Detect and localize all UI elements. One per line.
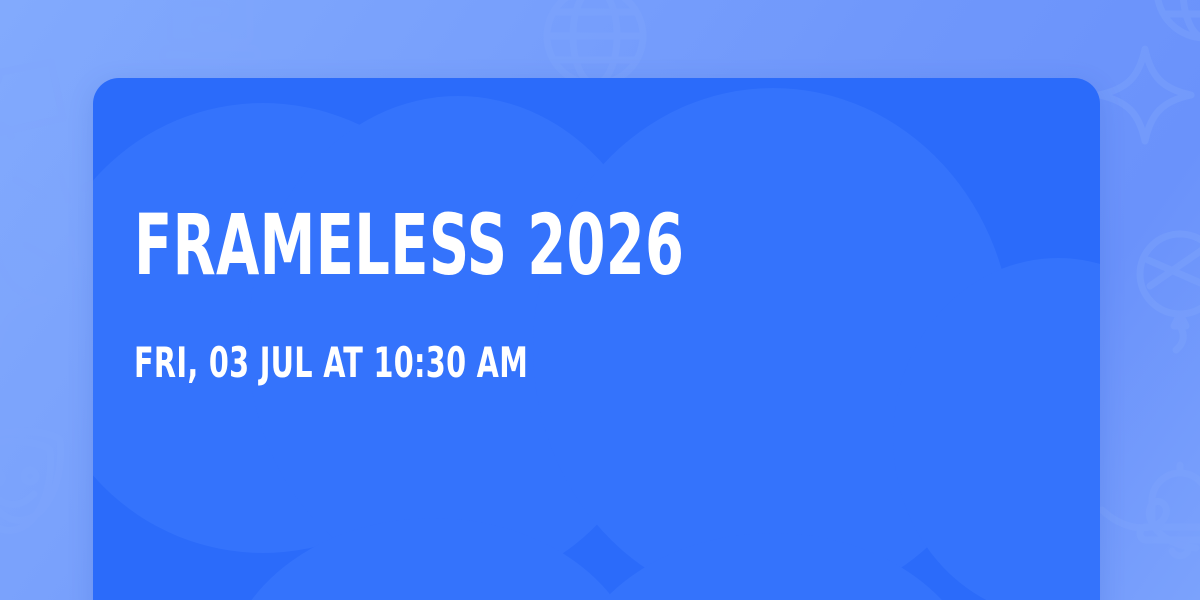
- event-card[interactable]: FRAMELESS 2026 FRI, 03 JUL AT 10:30 AM: [93, 78, 1100, 600]
- card-decor-circle: [893, 258, 1100, 600]
- event-banner: FRAMELESS 2026 FRI, 03 JUL AT 10:30 AM: [0, 0, 1200, 600]
- card-decor-circle: [93, 103, 488, 553]
- event-datetime: FRI, 03 JUL AT 10:30 AM: [134, 342, 528, 384]
- card-decor-circle: [563, 533, 983, 600]
- event-title: FRAMELESS 2026: [134, 203, 684, 287]
- card-decor-circle: [223, 518, 643, 600]
- card-decor-circle: [533, 88, 1013, 600]
